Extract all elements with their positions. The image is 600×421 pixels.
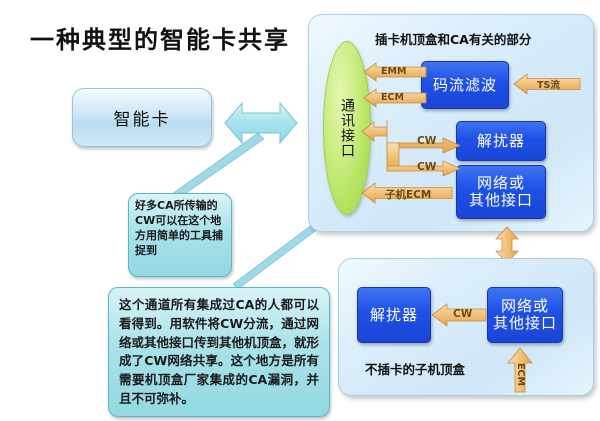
arrow-sub-ecm-label: 子机ECM — [385, 187, 431, 202]
box-network-interface-bottom: 网络或 其他接口 — [487, 287, 563, 343]
bidirectional-arrow-icon — [224, 102, 298, 144]
box-network-interface-bottom-line2: 其他接口 — [493, 315, 557, 332]
panel-bottom-title: 不插卡的子机顶盒 — [365, 359, 465, 378]
arrow-ts-stream-label: TS流 — [537, 77, 560, 91]
box-network-interface-top-line1: 网络或 — [477, 175, 525, 192]
callout-ca-vulnerability: 这个通道所有集成过CA的人都可以看得到。用软件将CW分流，通过网络或其他接口传到… — [108, 287, 330, 417]
arrow-ecm-bottom-label: ECM — [515, 363, 526, 386]
box-descrambler-top: 解扰器 — [456, 121, 546, 161]
arrow-emm-label: EMM — [381, 66, 406, 77]
callout-ca-vulnerability-text: 这个通道所有集成过CA的人都可以看得到。用软件将CW分流，通过网络或其他接口传到… — [119, 297, 319, 406]
page-title: 一种典型的智能卡共享 — [30, 20, 290, 55]
smart-card-box: 智能卡 — [72, 88, 212, 147]
box-stream-filter-label: 码流滤波 — [433, 77, 497, 94]
smart-card-label: 智能卡 — [114, 105, 171, 130]
box-descrambler-bottom-label: 解扰器 — [370, 307, 418, 324]
panel-top-title: 插卡机顶盒和CA有关的部分 — [375, 29, 531, 48]
box-stream-filter: 码流滤波 — [421, 61, 509, 109]
arrow-cw-lower-label: CW — [417, 161, 436, 173]
callout-cw-capture-text: 好多CA所传输的CW可以在这个地方用简单的工具捕捉到 — [135, 199, 223, 257]
box-network-interface-top-line2: 其他接口 — [469, 192, 533, 209]
arrow-ecm-label: ECM — [381, 92, 404, 103]
diagram-canvas: 一种典型的智能卡共享 智能卡 插卡机顶盒和CA有关的部分 通讯接口 — [0, 0, 600, 421]
panel-cardless-stb: 不插卡的子机顶盒 解扰器 网络或 其他接口 CW ECM — [338, 258, 594, 396]
box-network-interface-top: 网络或 其他接口 — [456, 165, 546, 219]
arrow-cw-upper-label: CW — [417, 135, 436, 147]
panel-card-stb: 插卡机顶盒和CA有关的部分 通讯接口 码流滤波 解扰器 网络或 其他接口 — [308, 14, 594, 232]
box-descrambler-bottom: 解扰器 — [357, 287, 431, 343]
box-descrambler-top-label: 解扰器 — [477, 133, 525, 150]
callout-cw-capture: 好多CA所传输的CW可以在这个地方用简单的工具捕捉到 — [128, 193, 232, 277]
arrow-cw-bottom-label: CW — [453, 308, 472, 320]
box-network-interface-bottom-line1: 网络或 — [501, 298, 549, 315]
